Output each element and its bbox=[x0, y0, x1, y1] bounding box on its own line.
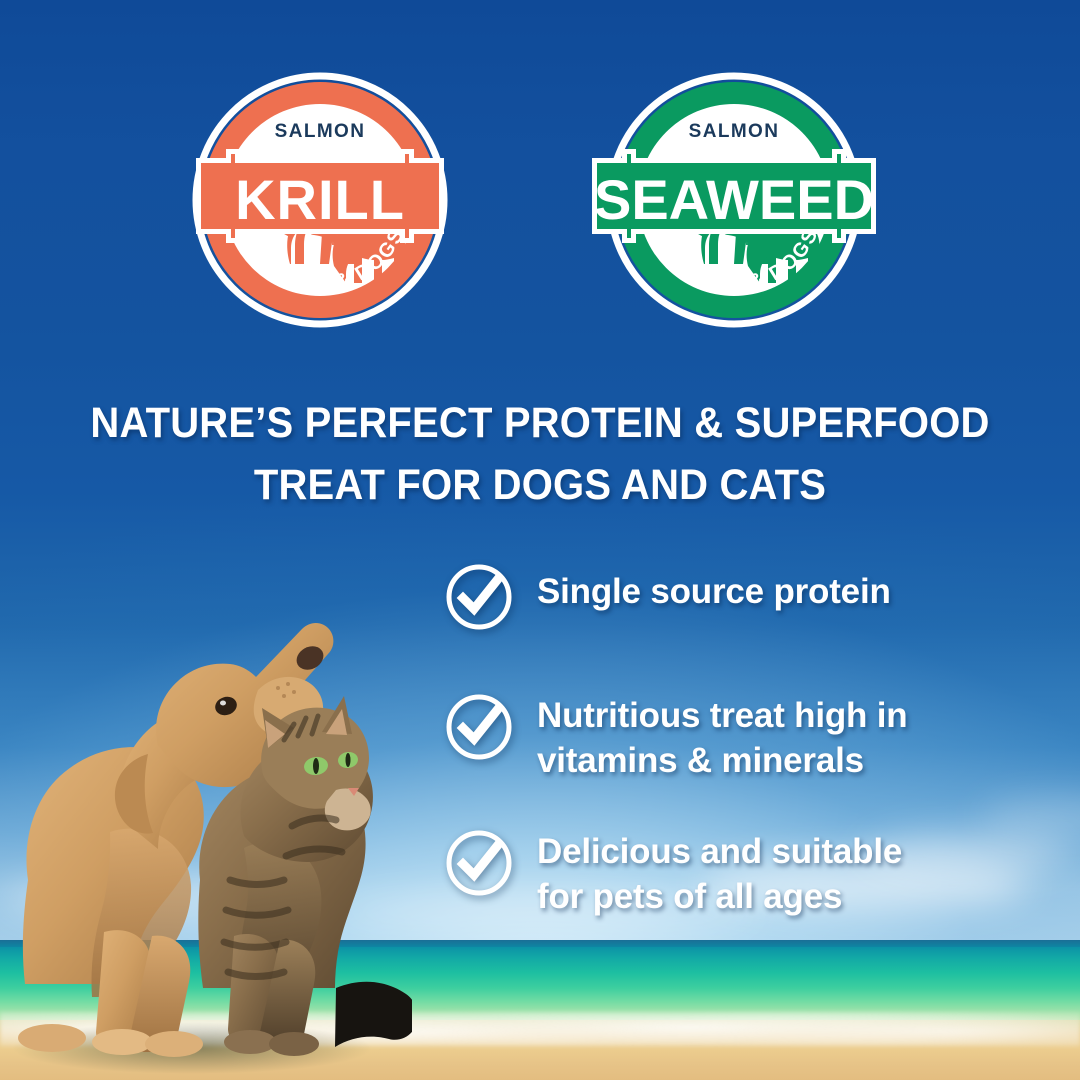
check-circle-icon bbox=[443, 560, 515, 632]
list-item-line-1: Delicious and suitable bbox=[537, 832, 902, 871]
product-marketing-banner: FOR CATS & DOGS SALMON KRILL bbox=[0, 0, 1080, 1080]
dog-and-cat-photo bbox=[0, 580, 412, 1080]
list-item-line-1: Single source protein bbox=[537, 572, 891, 611]
headline-line-1: NATURE’S PERFECT PROTEIN & SUPERFOOD bbox=[38, 392, 1042, 454]
badge-top-label: SALMON bbox=[689, 121, 780, 142]
badge-row: FOR CATS & DOGS SALMON KRILL bbox=[0, 66, 1080, 334]
list-item: Nutritious treat high in vitamins & mine… bbox=[443, 690, 907, 783]
badge-ribbon-label: SEAWEED bbox=[594, 168, 874, 231]
list-item: Single source protein bbox=[443, 560, 891, 632]
badge-top-label: SALMON bbox=[275, 121, 366, 142]
list-item-line-2: vitamins & minerals bbox=[537, 741, 864, 780]
seaweed-badge[interactable]: FOR CATS & DOGS SALMON SEAWEED bbox=[600, 66, 868, 334]
headline-line-2: TREAT FOR DOGS AND CATS bbox=[38, 454, 1042, 516]
list-item-line-1: Nutritious treat high in bbox=[537, 696, 907, 735]
list-item-line-2: for pets of all ages bbox=[537, 877, 842, 916]
krill-badge[interactable]: FOR CATS & DOGS SALMON KRILL bbox=[186, 66, 454, 334]
badge-ribbon: KRILL bbox=[196, 149, 444, 243]
badge-ribbon: SEAWEED bbox=[592, 149, 876, 243]
check-circle-icon bbox=[443, 690, 515, 762]
list-item: Delicious and suitable for pets of all a… bbox=[443, 826, 902, 919]
badge-ribbon-label: KRILL bbox=[235, 168, 405, 231]
headline: NATURE’S PERFECT PROTEIN & SUPERFOOD TRE… bbox=[38, 392, 1042, 516]
check-circle-icon bbox=[443, 826, 515, 898]
